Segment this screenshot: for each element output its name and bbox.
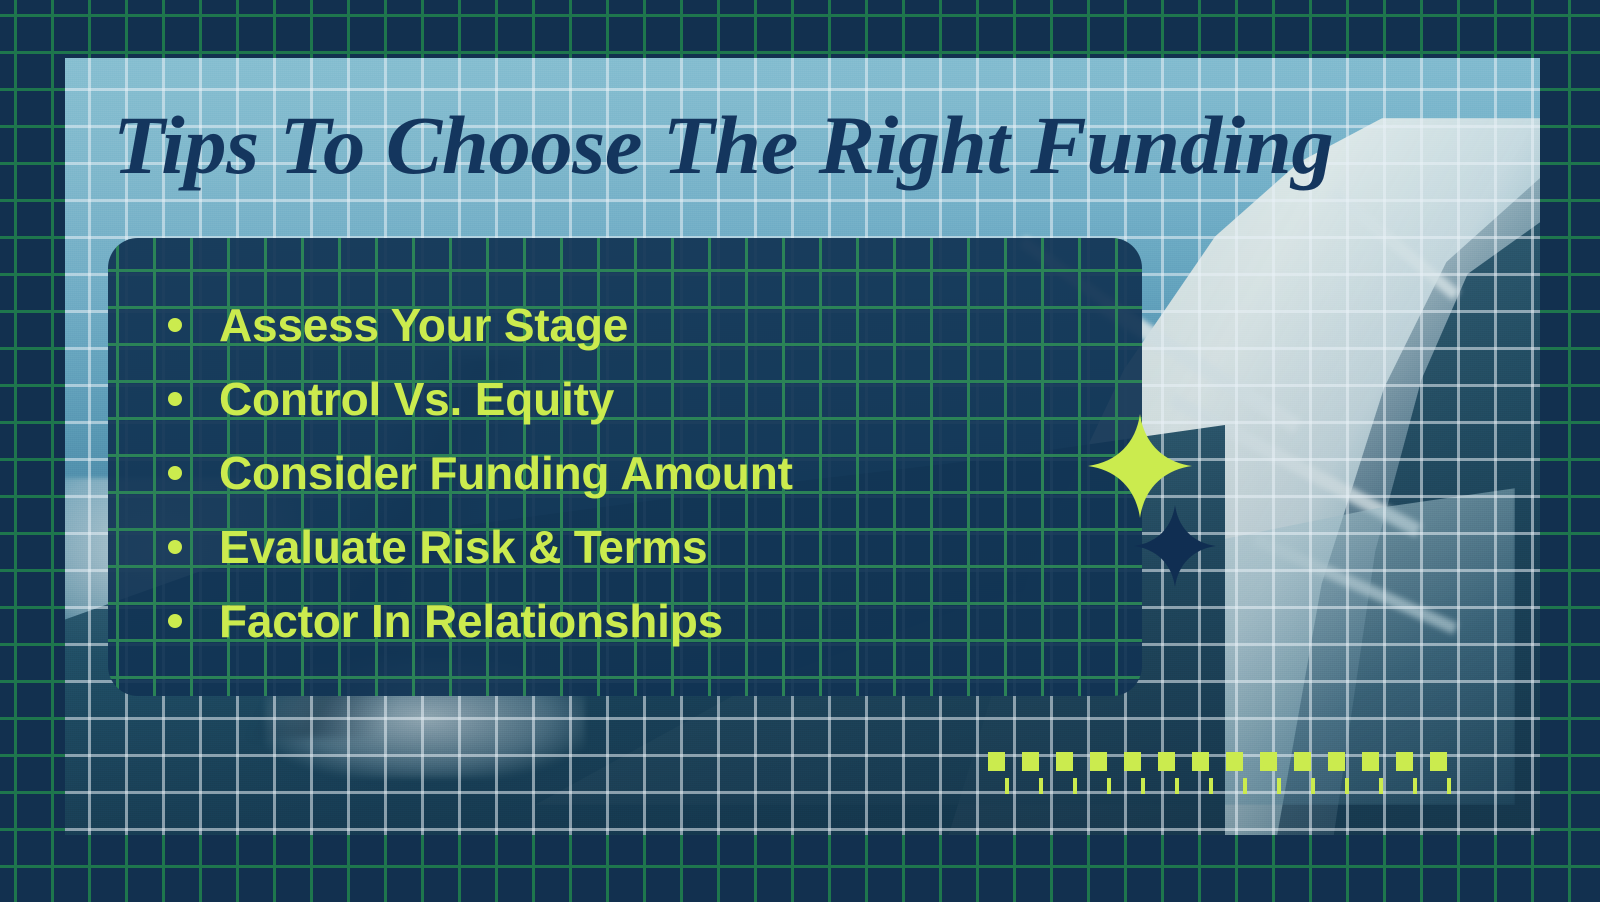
bullet-dot-icon: [168, 540, 182, 554]
ruler-tick: [1073, 778, 1077, 794]
poster-canvas: Tips To Choose The Right Funding Assess …: [0, 0, 1600, 902]
ruler-decoration: [988, 752, 1458, 794]
ruler-square: [1226, 752, 1243, 771]
list-item: Assess Your Stage: [168, 288, 1142, 362]
tip-label: Assess Your Stage: [219, 298, 628, 352]
ruler-square: [1260, 752, 1277, 771]
ruler-square: [1430, 752, 1447, 771]
four-point-star-icon-large: [1088, 414, 1192, 518]
bullet-dot-icon: [168, 466, 182, 480]
ruler-square: [1192, 752, 1209, 771]
tip-label: Factor In Relationships: [219, 594, 723, 648]
ruler-tick: [1447, 778, 1451, 794]
bullet-dot-icon: [168, 318, 182, 332]
ruler-tick: [1039, 778, 1043, 794]
ruler-square: [1124, 752, 1141, 771]
ruler-tick: [1311, 778, 1315, 794]
bullet-dot-icon: [168, 392, 182, 406]
ruler-tick: [1107, 778, 1111, 794]
ruler-tick: [1277, 778, 1281, 794]
tips-panel: Assess Your Stage Control Vs. Equity Con…: [108, 238, 1142, 696]
tip-label: Consider Funding Amount: [219, 446, 793, 500]
page-title: Tips To Choose The Right Funding: [113, 104, 1337, 187]
ruler-square: [1090, 752, 1107, 771]
list-item: Consider Funding Amount: [168, 436, 1142, 510]
ruler-square: [1056, 752, 1073, 771]
ruler-tick: [1243, 778, 1247, 794]
ruler-tick: [1141, 778, 1145, 794]
ruler-square: [1158, 752, 1175, 771]
list-item: Control Vs. Equity: [168, 362, 1142, 436]
ruler-square: [1328, 752, 1345, 771]
four-point-star-icon-small: [1134, 505, 1216, 587]
ruler-square: [988, 752, 1005, 771]
list-item: Evaluate Risk & Terms: [168, 510, 1142, 584]
ruler-tick: [1413, 778, 1417, 794]
ruler-square: [1022, 752, 1039, 771]
ruler-square: [1396, 752, 1413, 771]
ruler-square: [1362, 752, 1379, 771]
ruler-square: [1294, 752, 1311, 771]
ruler-tick: [1175, 778, 1179, 794]
tips-list: Assess Your Stage Control Vs. Equity Con…: [108, 238, 1142, 658]
tip-label: Control Vs. Equity: [219, 372, 614, 426]
ruler-tick: [1345, 778, 1349, 794]
ruler-tick: [1005, 778, 1009, 794]
ruler-tick: [1379, 778, 1383, 794]
ruler-tick: [1209, 778, 1213, 794]
tip-label: Evaluate Risk & Terms: [219, 520, 707, 574]
bullet-dot-icon: [168, 614, 182, 628]
list-item: Factor In Relationships: [168, 584, 1142, 658]
